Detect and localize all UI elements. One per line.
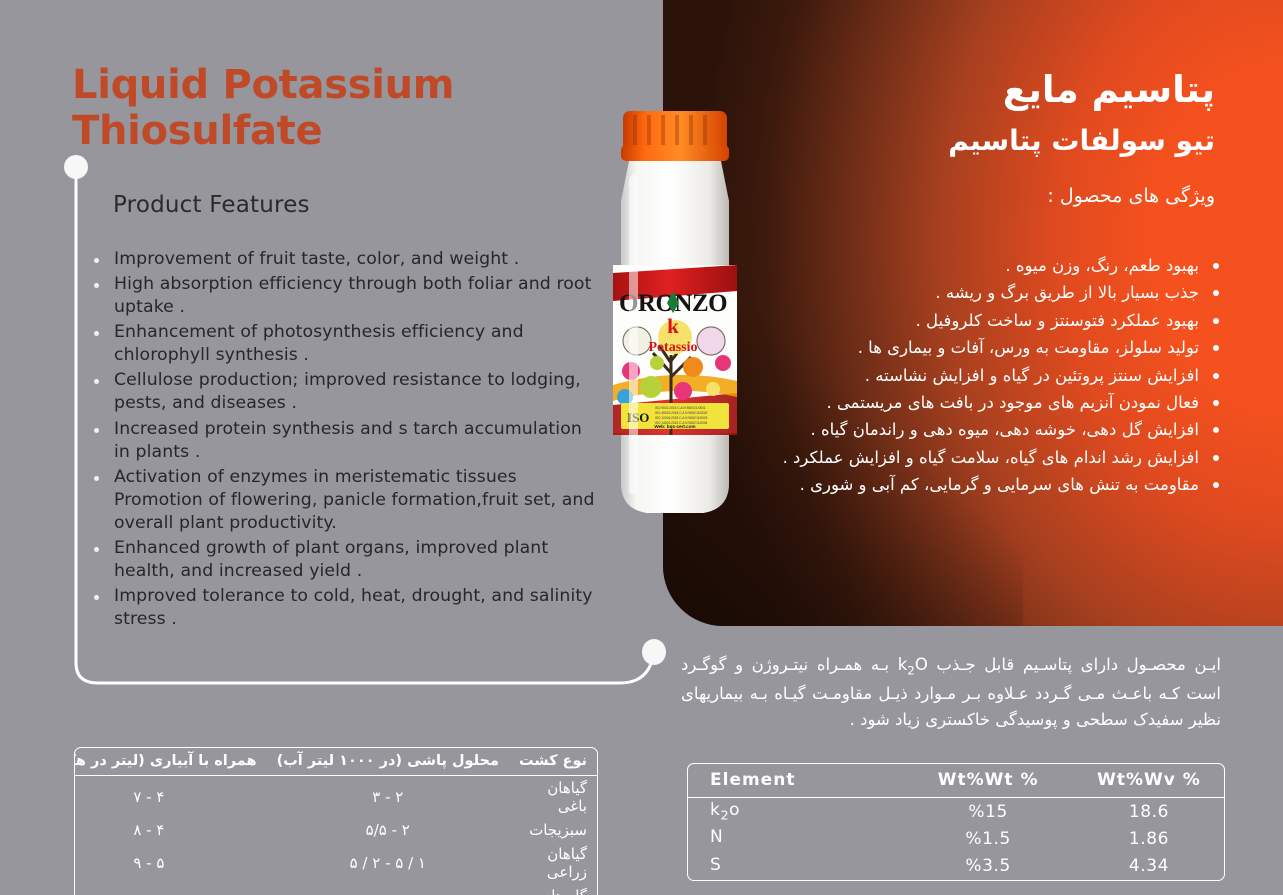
cell-foliar: ۲ - ۵/۵ [267, 818, 509, 842]
column-header-wtwv: Wt%Wv % [1074, 764, 1224, 798]
cell-crop: گیاهان باغی [509, 776, 597, 819]
list-item: بهبود طعم، رنگ، وزن میوه . [701, 252, 1221, 279]
cell-wtwv: 1.86 [1074, 825, 1224, 852]
table-row: S %3.5 4.34 [688, 853, 1224, 880]
list-item: Improvement of fruit taste, color, and w… [92, 248, 597, 271]
list-item: High absorption efficiency through both … [92, 273, 597, 319]
table-header-row: نوع کشت محلول پاشی (در ۱۰۰۰ لیتر آب) همر… [74, 748, 597, 776]
cell-foliar: ۲ - ۳ [267, 884, 509, 895]
svg-text:Potassio: Potassio [649, 340, 698, 355]
column-header-crop: نوع کشت [509, 748, 597, 776]
persian-features-heading: ویژگی های محصول : [1047, 185, 1215, 207]
features-list: Improvement of fruit taste, color, and w… [92, 248, 597, 633]
list-item: مقاومت به تنش های سرمایی و گرمایی، کم آب… [701, 471, 1221, 498]
cell-element: S [688, 853, 902, 880]
svg-text:ISO 45001:2018 C.A N 980/C/1: ISO 45001:2018 C.A N 980/C/1/0002 [655, 411, 708, 415]
table-row: گیاهان زراعی ۱ / ۵ - ۲ / ۵ ۵ - ۹ [74, 842, 597, 884]
list-item: افزایش گل دهی، خوشه دهی، میوه دهی و راند… [701, 416, 1221, 443]
cell-crop: گل های زینتی [509, 884, 597, 895]
cell-wtwv: 4.34 [1074, 853, 1224, 880]
list-item: بهبود عملکرد فتوسنتز و ساخت کلروفیل . [701, 307, 1221, 334]
svg-text:Web: bqs-cert.com: Web: bqs-cert.com [654, 424, 695, 429]
page-title-line1: Liquid Potassium [72, 62, 592, 108]
list-item: افزایش رشد اندام های گیاه، سلامت گیاه و … [701, 444, 1221, 471]
table-row: سبزیجات ۲ - ۵/۵ ۴ - ۸ [74, 818, 597, 842]
column-header-foliar: محلول پاشی (در ۱۰۰۰ لیتر آب) [267, 748, 509, 776]
cell-crop: سبزیجات [509, 818, 597, 842]
page-title-line2: Thiosulfate [72, 108, 592, 154]
list-item: Enhanced growth of plant organs, improve… [92, 537, 597, 583]
cell-crop: گیاهان زراعی [509, 842, 597, 884]
svg-text:k: k [667, 314, 679, 338]
element-composition-table: Element Wt%Wt % Wt%Wv % k2o %15 18.6 N %… [687, 763, 1225, 881]
bracket-dot-top [64, 155, 88, 179]
list-item: Increased protein synthesis and s tarch … [92, 418, 597, 464]
table-row: k2o %15 18.6 [688, 798, 1224, 826]
cell-foliar: ۱ / ۵ - ۲ / ۵ [267, 842, 509, 884]
cell-element: N [688, 825, 902, 852]
persian-description: ایـن محصـول دارای پتاسـیم قابل جـذب k2O … [681, 652, 1221, 734]
cell-irrigation: ۵ - ۹ [74, 842, 267, 884]
page-title: Liquid Potassium Thiosulfate [72, 62, 592, 155]
cell-irrigation: ۴ - ۷ [74, 776, 267, 819]
list-item: Activation of enzymes in meristematic ti… [92, 466, 597, 535]
table-header-row: Element Wt%Wt % Wt%Wv % [688, 764, 1224, 798]
features-heading: Product Features [113, 192, 310, 218]
bracket-dot-end [642, 639, 666, 665]
table-row: گیاهان باغی ۲ - ۳ ۴ - ۷ [74, 776, 597, 819]
list-item: Cellulose production; improved resistanc… [92, 369, 597, 415]
list-item: Enhancement of photosynthesis efficiency… [92, 321, 597, 367]
persian-title-secondary: تیو سولفات پتاسیم [948, 123, 1215, 158]
persian-title-primary: پتاسیم مایع [1003, 68, 1215, 112]
svg-text:ISO 10004:2018 C.A N 980/C/1: ISO 10004:2018 C.A N 980/C/1/0003 [655, 416, 708, 420]
list-item: فعال نمودن آنزیم های موجود در بافت های م… [701, 389, 1221, 416]
svg-text:ISO 9001:2015 C.A N 980/C/1: ISO 9001:2015 C.A N 980/C/1/0001 [655, 406, 706, 410]
list-item: تولید سلولز، مقاومت به ورس، آفات و بیمار… [701, 334, 1221, 361]
cell-wtwv: 18.6 [1074, 798, 1224, 826]
cell-wtwt: %1.5 [902, 825, 1074, 852]
list-item: افزایش سنتز پروتئین در گیاه و افزایش نشا… [701, 362, 1221, 389]
column-header-element: Element [688, 764, 902, 798]
cell-irrigation: ۴ - ۸ [74, 818, 267, 842]
persian-features-list: بهبود طعم، رنگ، وزن میوه . جذب بسیار بال… [701, 252, 1221, 498]
table-row: گل های زینتی ۲ - ۳ ۳ - ۶ [74, 884, 597, 895]
brochure-page: Liquid Potassium Thiosulfate Product Fea… [0, 0, 1283, 895]
cell-element: k2o [688, 798, 902, 826]
persian-description-part1: ایـن محصـول دارای پتاسـیم قابل جـذب [928, 655, 1221, 674]
cell-foliar: ۲ - ۳ [267, 776, 509, 819]
dosage-table: نوع کشت محلول پاشی (در ۱۰۰۰ لیتر آب) همر… [74, 747, 598, 895]
list-item: جذب بسیار بالا از طریق برگ و ریشه . [701, 279, 1221, 306]
product-bottle-image: ORONZO k Potassio ISO ISO 9001:2015 C.A … [595, 105, 755, 530]
column-header-irrigation: همراه با آبیاری (لیتر در هکتار) [74, 748, 267, 776]
cell-wtwt: %3.5 [902, 853, 1074, 880]
column-header-wtwt: Wt%Wt % [902, 764, 1074, 798]
chemical-formula-k2o: k2O [898, 655, 928, 674]
table-row: N %1.5 1.86 [688, 825, 1224, 852]
list-item: Improved tolerance to cold, heat, drough… [92, 585, 597, 631]
cell-wtwt: %15 [902, 798, 1074, 826]
cell-irrigation: ۳ - ۶ [74, 884, 267, 895]
